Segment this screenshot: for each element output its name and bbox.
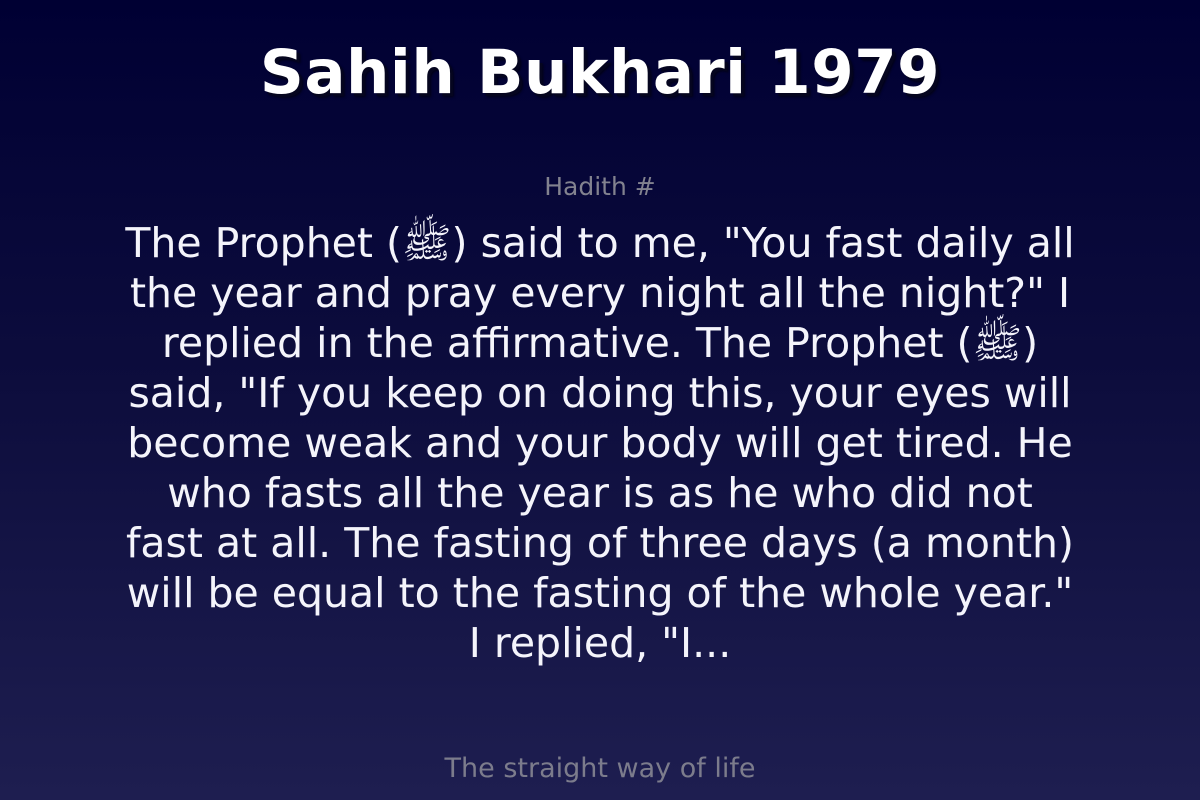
hadith-slide: Sahih Bukhari 1979 Hadith # The Prophet … (0, 0, 1200, 800)
footer-tagline: The straight way of life (0, 755, 1200, 782)
hadith-body-container: The Prophet (ﷺ) said to me, "You fast da… (125, 218, 1075, 668)
hadith-number-label: Hadith # (0, 174, 1200, 199)
hadith-body-text: The Prophet (ﷺ) said to me, "You fast da… (125, 218, 1075, 668)
page-title: Sahih Bukhari 1979 (0, 42, 1200, 103)
